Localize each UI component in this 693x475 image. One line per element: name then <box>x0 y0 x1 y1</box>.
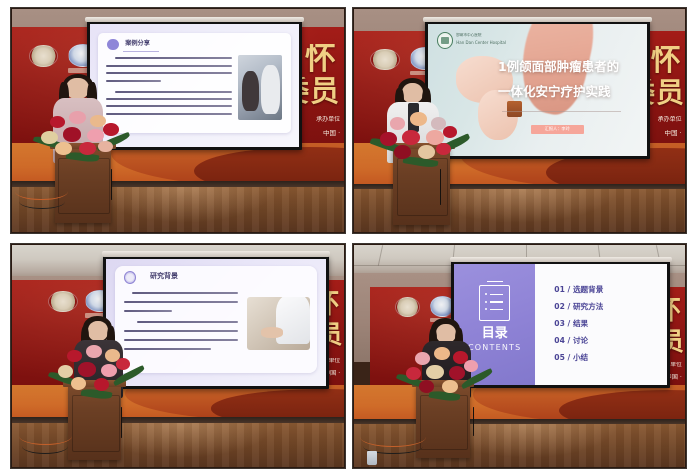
photo-cell-4[interactable]: 怀 委员 承办单位 中国 · <box>352 243 688 470</box>
slide-body-line <box>124 330 238 332</box>
banner-line-2: 中国 · <box>323 130 340 138</box>
panel-2-image: 怀 委员 承办单位 中国 · <box>354 9 686 232</box>
hospital-name-cn: 邯郸市中心医院 <box>456 34 481 38</box>
slide-inset-photo <box>247 297 311 351</box>
slide-body-line <box>106 65 232 67</box>
toc-sep: / <box>568 302 571 311</box>
slide-bullet-dot <box>107 39 119 50</box>
banner-line-2: 中国 · <box>665 130 682 138</box>
hospital-emblem-logo <box>29 45 59 67</box>
toc-item-2: 02 / 研究方法 <box>554 303 603 311</box>
toc-sep: / <box>568 319 571 328</box>
photo-figure-clinician <box>261 65 279 113</box>
slide-body-line <box>106 80 160 82</box>
speaker-head <box>436 324 456 343</box>
slide-body-line <box>124 310 172 312</box>
flower-bloom <box>58 365 74 378</box>
flower-bloom <box>55 142 72 155</box>
panel-1-image: 怀 委员 承办单位 中国 · <box>12 9 344 232</box>
ceiling-grid-line <box>378 245 383 265</box>
flower-bloom <box>406 367 422 380</box>
slide-heading: 案例分享 <box>125 41 150 47</box>
flower-bloom <box>103 123 119 135</box>
screen-roller <box>423 17 652 23</box>
flower-bloom <box>394 145 411 159</box>
slide-heading: 研究背景 <box>150 273 178 280</box>
flower-bloom <box>436 143 451 155</box>
clipboard-line <box>490 301 503 302</box>
flower-arrangement <box>39 107 132 169</box>
flower-bloom <box>78 362 95 376</box>
slide-body-line <box>124 301 238 303</box>
flower-bloom <box>390 117 406 130</box>
screen-roller <box>450 257 672 263</box>
flower-bloom <box>415 352 430 364</box>
banner-headline: 怀 <box>305 44 337 75</box>
clipboard-line <box>490 294 503 295</box>
photo-figure-patient <box>242 71 260 111</box>
slide-title-line-2: 一体化安宁疗护实践 <box>498 86 611 99</box>
flower-bloom <box>434 347 450 360</box>
clipboard-clip <box>487 281 503 282</box>
toc-item-5: 05 / 小结 <box>554 354 588 362</box>
banner-headline: 怀 <box>651 46 682 76</box>
flower-bloom <box>442 380 458 393</box>
flower-bloom <box>67 350 82 362</box>
toc-label: 选题背景 <box>573 285 603 294</box>
decorative-band <box>507 101 522 117</box>
toc-label: 结果 <box>573 319 588 328</box>
flower-bloom <box>380 132 397 146</box>
microphone-stand <box>473 407 474 436</box>
floor-reflection <box>95 187 277 223</box>
toc-num: 03 <box>554 319 565 328</box>
flower-bloom <box>86 345 102 358</box>
photo-figure-doctor <box>276 297 310 344</box>
slide-body-line <box>132 292 237 294</box>
slide-body-line <box>106 72 232 74</box>
toc-sep: / <box>568 353 571 362</box>
speaker-head <box>66 78 89 99</box>
hospital-emblem-logo <box>48 291 78 312</box>
slide-heading-rule <box>123 51 159 52</box>
title-divider <box>502 111 620 112</box>
slide-inset-photo <box>238 55 282 120</box>
flower-bloom <box>443 126 458 138</box>
hospital-emblem-logo <box>395 297 420 317</box>
flower-bloom <box>464 360 478 372</box>
foliage-leaf <box>460 367 494 389</box>
clipboard-bullet <box>485 293 487 295</box>
hospital-logo-icon <box>437 32 453 49</box>
toc-label: 小结 <box>573 353 588 362</box>
flower-arrangement <box>403 345 489 407</box>
microphone-stand <box>440 169 441 205</box>
flower-bloom <box>402 130 421 145</box>
floor-cable <box>19 194 65 210</box>
slide-body-line <box>137 321 238 323</box>
toc-item-3: 03 / 结果 <box>554 320 588 328</box>
flower-arrangement <box>55 342 141 404</box>
flower-bloom <box>418 145 435 159</box>
toc-num: 01 <box>554 285 565 294</box>
flower-bloom <box>50 116 66 128</box>
screen-roller <box>102 251 331 257</box>
flower-bloom <box>419 380 435 393</box>
toc-item-4: 04 / 讨论 <box>554 337 588 345</box>
screen-roller <box>85 17 304 23</box>
toc-sep: / <box>568 285 571 294</box>
flower-bloom <box>63 127 82 141</box>
hospital-name-en: Han Dan Center Hospital <box>456 41 506 45</box>
toc-num: 05 <box>554 353 565 362</box>
scene-1: 怀 委员 承办单位 中国 · <box>12 9 344 232</box>
toc-item-1: 01 / 选题背景 <box>554 286 603 294</box>
presenter-badge: 汇报人：李玲 <box>531 125 584 135</box>
flower-bloom <box>101 364 117 378</box>
toc-sep: / <box>568 336 571 345</box>
flower-arrangement <box>377 109 470 174</box>
toc-num: 02 <box>554 302 565 311</box>
slide-body-line <box>124 339 238 341</box>
panel-4-image: 怀 委员 承办单位 中国 · <box>354 245 686 468</box>
floor-reflection <box>420 189 619 223</box>
flower-bloom <box>98 141 113 153</box>
photo-figure-hands <box>261 327 284 338</box>
speaker-head <box>88 321 108 341</box>
scene-4: 怀 委员 承办单位 中国 · <box>354 245 686 468</box>
banner-line-1: 承办单位 <box>658 116 682 123</box>
hospital-emblem-logo <box>370 49 400 70</box>
flower-bloom <box>116 358 130 370</box>
photo-collage-grid: 怀 委员 承办单位 中国 · <box>0 0 693 475</box>
slide-heading-icon <box>124 271 136 284</box>
speaker-head <box>402 83 423 103</box>
clipboard-bullet <box>485 308 487 310</box>
flower-bloom <box>41 131 58 144</box>
scene-3: 怀 委员 承办单位 中国 · <box>12 245 344 468</box>
flower-bloom <box>449 366 465 380</box>
slide-title-line-1: 1例颌面部肿瘤患者的 <box>498 61 619 74</box>
flower-bloom <box>69 111 86 124</box>
toc-label: 讨论 <box>573 336 588 345</box>
flower-bloom <box>71 377 87 390</box>
photo-cell-3[interactable]: 怀 委员 承办单位 中国 · <box>10 243 346 470</box>
slide-body-line <box>106 98 232 100</box>
flower-bloom <box>94 378 110 391</box>
banner-line-1: 承办单位 <box>316 116 340 123</box>
clipboard-bullet <box>485 301 487 303</box>
toc-num: 04 <box>554 336 565 345</box>
photo-cell-1[interactable]: 怀 委员 承办单位 中国 · <box>10 7 346 234</box>
flower-bloom <box>426 365 443 379</box>
clipboard-list-icon <box>479 285 510 321</box>
flower-bloom <box>410 112 427 126</box>
panel-3-image: 怀 委员 承办单位 中国 · <box>12 245 344 468</box>
floor-cable <box>22 438 68 454</box>
clipboard-line <box>490 309 503 310</box>
slide-body-line <box>115 91 232 93</box>
scene-2: 怀 委员 承办单位 中国 · <box>354 9 686 232</box>
water-bottle <box>367 451 377 464</box>
photo-cell-2[interactable]: 怀 委员 承办单位 中国 · <box>352 7 688 234</box>
toc-label: 研究方法 <box>573 302 603 311</box>
